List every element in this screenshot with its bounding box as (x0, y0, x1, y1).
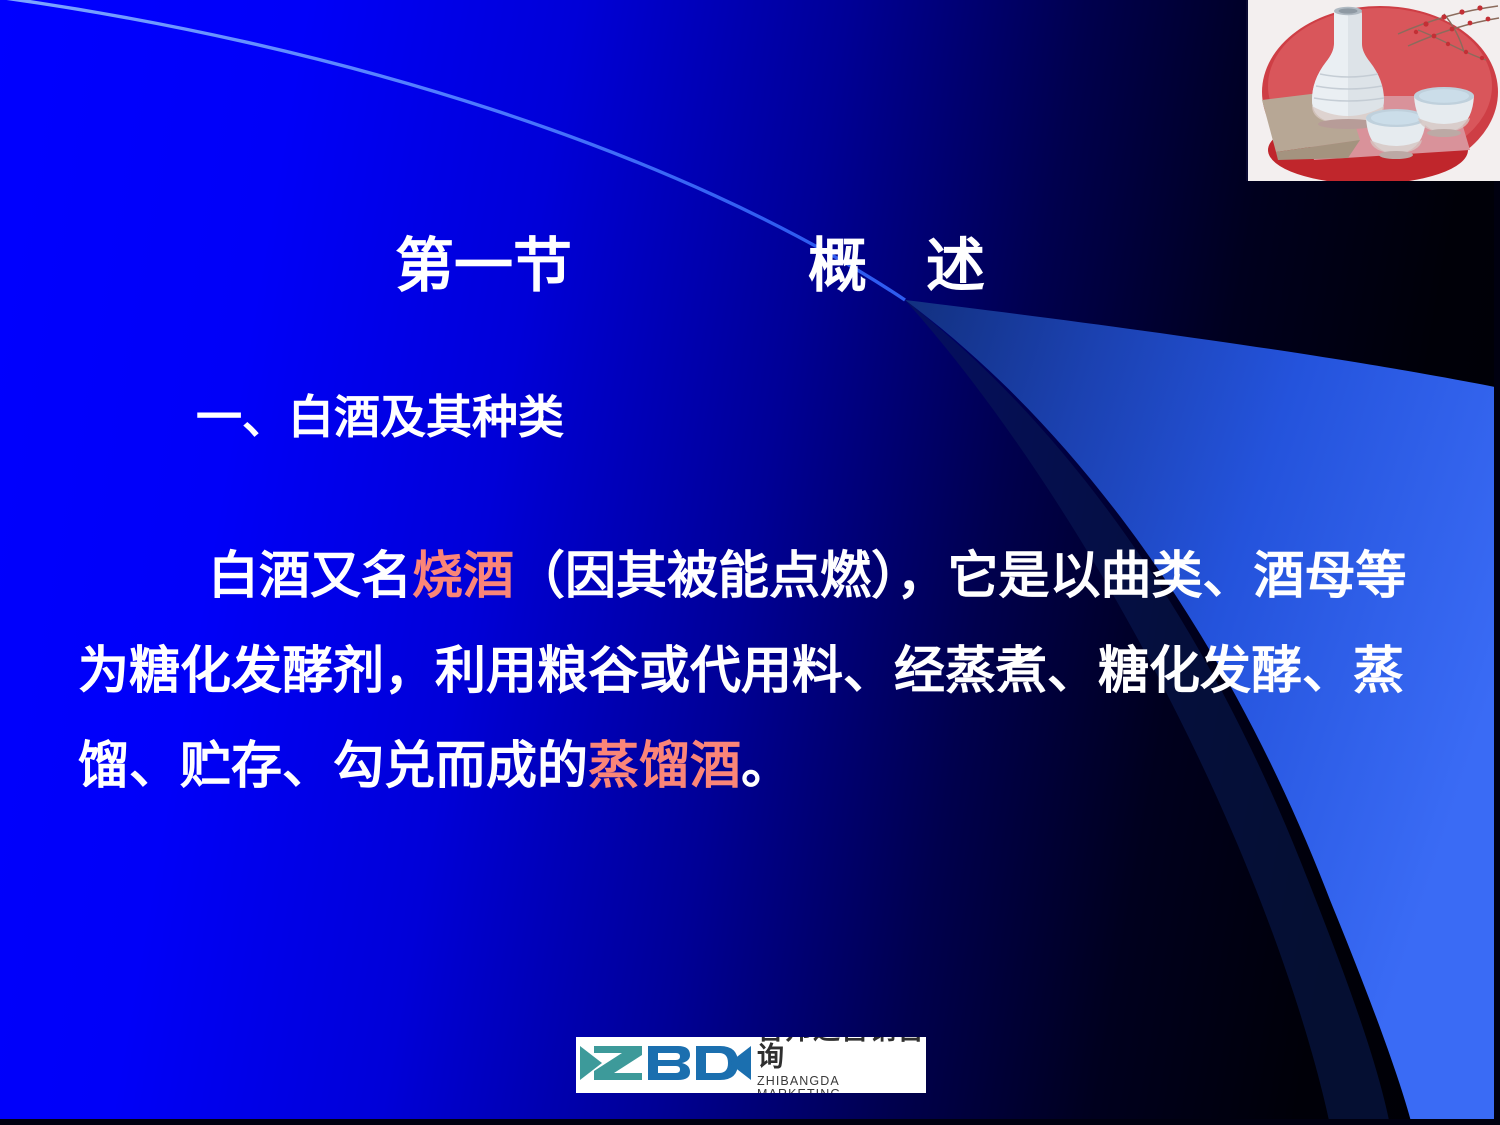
section-heading: 一、白酒及其种类 (196, 392, 564, 443)
logo-company-name-en: ZHIBANGDA MARKETING MANAGEMENT (757, 1075, 926, 1093)
zbd-logo-mark (576, 1040, 753, 1091)
zbd-logo: 智邦达营销咨询 ZHIBANGDA MARKETING MANAGEMENT (576, 1037, 926, 1093)
body-paragraph: 白酒又名烧酒（因其被能点燃），它是以曲类、酒母等为糖化发酵剂，利用粮谷或代用料、… (78, 528, 1408, 813)
logo-company-name-cn: 智邦达营销咨询 (757, 1037, 926, 1071)
zbd-monogram-icon (578, 1040, 753, 1086)
body-text-run: 白酒又名 (208, 547, 412, 604)
body-text-run: 。 (741, 737, 792, 794)
highlighted-term: 烧酒 (412, 547, 514, 604)
slide-edge-bottom (0, 1119, 1500, 1125)
sake-photo (1246, 0, 1500, 181)
sake-photo-image (1248, 0, 1500, 181)
presentation-slide: 第一节 概 述 一、白酒及其种类 白酒又名烧酒（因其被能点燃），它是以曲类、酒母… (0, 0, 1500, 1125)
highlighted-term: 蒸馏酒 (588, 737, 741, 794)
slide-title: 第一节 概 述 (0, 236, 1500, 298)
